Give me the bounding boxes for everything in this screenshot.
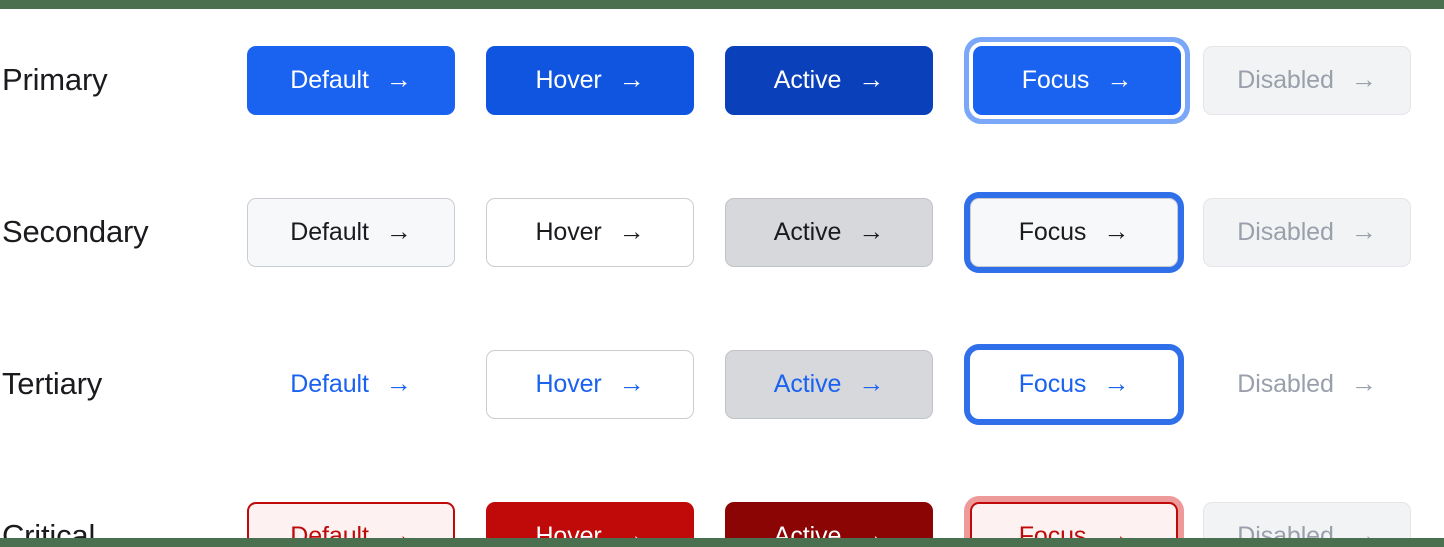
- arrow-right-icon: →: [1351, 218, 1377, 244]
- row-label-tertiary: Tertiary: [0, 367, 247, 401]
- button-primary-disabled: Disabled →: [1203, 46, 1411, 115]
- row-label-primary: Primary: [0, 63, 247, 97]
- arrow-right-icon: →: [619, 370, 645, 396]
- arrow-right-icon: →: [1351, 370, 1377, 396]
- cell-secondary-default: Default →: [247, 192, 486, 273]
- button-label: Hover: [535, 66, 601, 95]
- button-label: Active: [774, 370, 841, 399]
- cell-secondary-focus: Focus →: [964, 192, 1203, 273]
- button-label: Active: [774, 218, 841, 247]
- button-primary-hover[interactable]: Hover →: [486, 46, 694, 115]
- cell-tertiary-active: Active →: [725, 344, 964, 425]
- button-label: Disabled: [1237, 218, 1333, 247]
- button-label: Focus: [1019, 218, 1087, 247]
- button-label: Focus: [1019, 370, 1087, 399]
- cell-primary-active: Active →: [725, 37, 964, 124]
- cell-tertiary-focus: Focus →: [964, 344, 1203, 425]
- button-secondary-focus[interactable]: Focus →: [970, 198, 1178, 267]
- button-label: Focus: [1022, 66, 1090, 95]
- row-cells-tertiary: Default → Hover → Active →: [247, 344, 1444, 425]
- button-label: Hover: [535, 370, 601, 399]
- arrow-right-icon: →: [386, 218, 412, 244]
- cell-tertiary-disabled: Disabled →: [1203, 344, 1442, 425]
- arrow-right-icon: →: [619, 66, 645, 92]
- button-tertiary-focus[interactable]: Focus →: [970, 350, 1178, 419]
- button-states-matrix: Primary Default → Hover → Acti: [0, 0, 1444, 547]
- arrow-right-icon: →: [386, 66, 412, 92]
- button-variant-grid: Primary Default → Hover → Acti: [0, 0, 1444, 547]
- button-primary-default[interactable]: Default →: [247, 46, 455, 115]
- cell-secondary-active: Active →: [725, 192, 964, 273]
- button-row-secondary: Secondary Default → Hover → Ac: [0, 156, 1444, 308]
- button-label: Default: [290, 218, 369, 247]
- button-row-primary: Primary Default → Hover → Acti: [0, 4, 1444, 156]
- button-secondary-hover[interactable]: Hover →: [486, 198, 694, 267]
- arrow-right-icon: →: [619, 218, 645, 244]
- arrow-right-icon: →: [1103, 218, 1129, 244]
- focus-ring-gap: Focus →: [969, 42, 1185, 119]
- button-tertiary-hover[interactable]: Hover →: [486, 350, 694, 419]
- button-row-tertiary: Tertiary Default → Hover → Act: [0, 308, 1444, 460]
- viewport-bottom-bar: [0, 538, 1444, 547]
- row-cells-secondary: Default → Hover → Active →: [247, 192, 1444, 273]
- button-secondary-default[interactable]: Default →: [247, 198, 455, 267]
- button-label: Default: [290, 66, 369, 95]
- button-secondary-disabled: Disabled →: [1203, 198, 1411, 267]
- button-label: Default: [290, 370, 369, 399]
- cell-primary-disabled: Disabled →: [1203, 37, 1442, 124]
- arrow-right-icon: →: [386, 370, 412, 396]
- arrow-right-icon: →: [858, 66, 884, 92]
- button-label: Hover: [535, 218, 601, 247]
- cell-secondary-hover: Hover →: [486, 192, 725, 273]
- arrow-right-icon: →: [1351, 66, 1377, 92]
- arrow-right-icon: →: [858, 218, 884, 244]
- cell-tertiary-hover: Hover →: [486, 344, 725, 425]
- viewport-top-bar: [0, 0, 1444, 9]
- button-row-critical: Critical Default → Hover → Act: [0, 460, 1444, 547]
- button-tertiary-disabled: Disabled →: [1203, 350, 1411, 419]
- cell-tertiary-default: Default →: [247, 344, 486, 425]
- button-label: Disabled: [1237, 66, 1333, 95]
- button-primary-focus[interactable]: Focus →: [973, 46, 1181, 115]
- cell-primary-hover: Hover →: [486, 37, 725, 124]
- button-tertiary-active[interactable]: Active →: [725, 350, 933, 419]
- cell-secondary-disabled: Disabled →: [1203, 192, 1442, 273]
- button-secondary-active[interactable]: Active →: [725, 198, 933, 267]
- focus-ring-primary: Focus →: [964, 37, 1190, 124]
- cell-primary-default: Default →: [247, 37, 486, 124]
- arrow-right-icon: →: [1106, 66, 1132, 92]
- cell-primary-focus: Focus →: [964, 37, 1203, 124]
- arrow-right-icon: →: [858, 370, 884, 396]
- focus-ring-tertiary: Focus →: [964, 344, 1184, 425]
- button-primary-active[interactable]: Active →: [725, 46, 933, 115]
- button-label: Active: [774, 66, 841, 95]
- row-cells-primary: Default → Hover → Active →: [247, 37, 1444, 124]
- row-label-secondary: Secondary: [0, 215, 247, 249]
- button-tertiary-default[interactable]: Default →: [247, 350, 455, 419]
- arrow-right-icon: →: [1103, 370, 1129, 396]
- button-label: Disabled: [1237, 370, 1333, 399]
- focus-ring-secondary: Focus →: [964, 192, 1184, 273]
